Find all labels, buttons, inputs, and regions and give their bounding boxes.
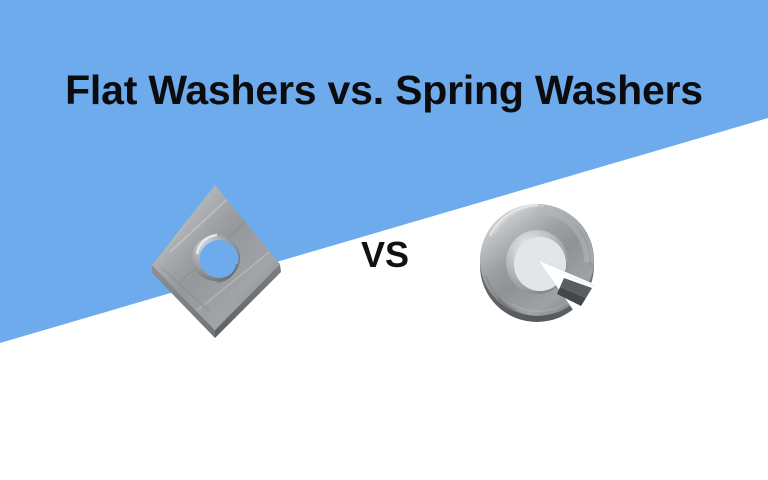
versus-label: VS xyxy=(350,234,420,276)
split-ring-spring-washer-icon xyxy=(472,192,612,332)
spring-washer-image xyxy=(472,192,612,332)
flat-washer-image xyxy=(140,172,300,344)
square-flat-washer-icon xyxy=(140,172,300,344)
comparison-banner: Flat Washers vs. Spring Washers xyxy=(0,0,768,480)
page-title: Flat Washers vs. Spring Washers xyxy=(0,66,768,114)
